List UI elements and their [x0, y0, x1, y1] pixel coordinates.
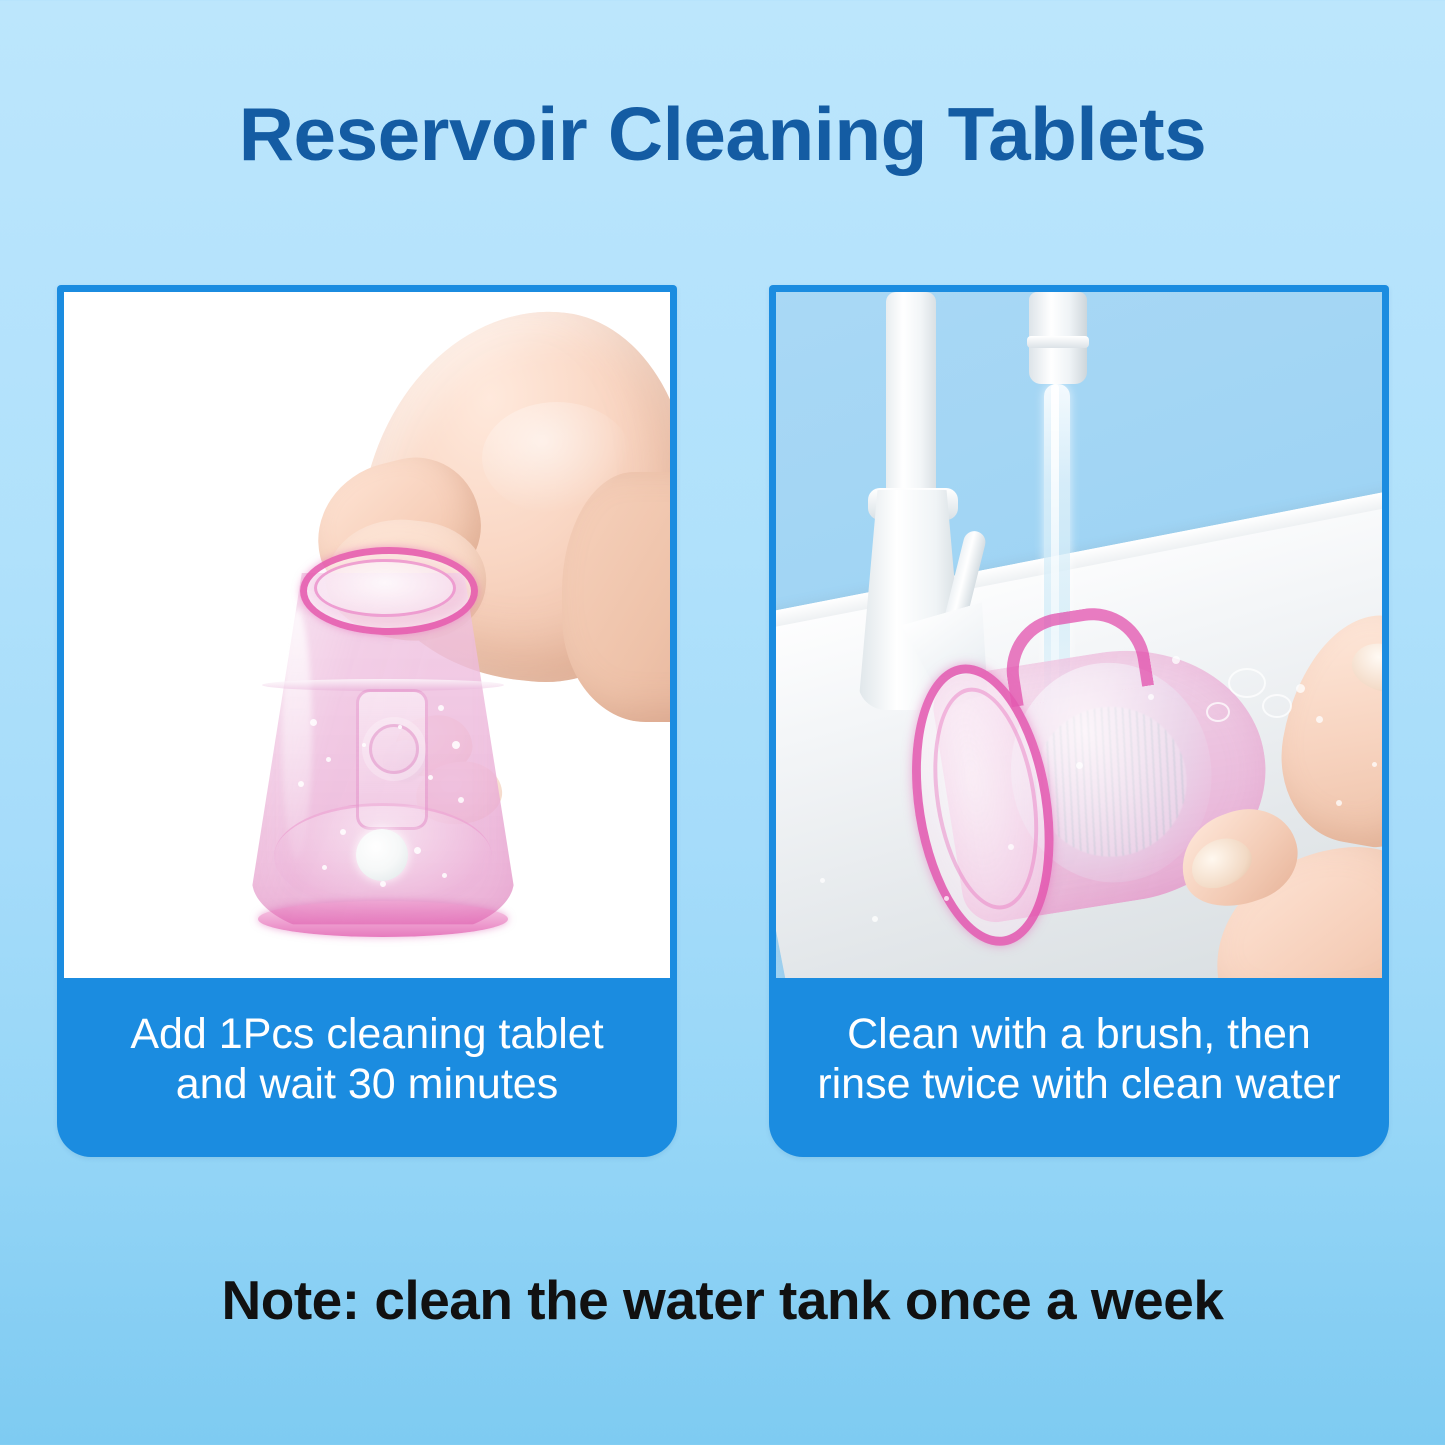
step-2-caption: Clean with a brush, then rinse twice wit… [769, 978, 1389, 1157]
water-splash-ring [1206, 702, 1230, 722]
water-tank-reservoir [252, 529, 514, 939]
bubble [340, 829, 346, 835]
water-splash-ring [1262, 694, 1292, 718]
bubble [362, 743, 366, 747]
step-1-photo [64, 292, 670, 978]
bubble [414, 847, 421, 854]
knuckle-highlight [482, 402, 632, 514]
step-2-caption-line-2: rinse twice with clean water [817, 1060, 1340, 1110]
water-droplet [1316, 716, 1323, 723]
step-1-caption: Add 1Pcs cleaning tablet and wait 30 min… [57, 978, 677, 1157]
water-droplet [944, 896, 949, 901]
bubble [428, 775, 433, 780]
bubble [298, 781, 304, 787]
water-droplet [1372, 762, 1377, 767]
step-1-illustration [64, 292, 670, 978]
water-droplet [1296, 684, 1305, 693]
water-splash-ring [1228, 668, 1266, 698]
water-droplet [820, 878, 825, 883]
water-droplet [1336, 800, 1342, 806]
dissolving-tablet [356, 829, 408, 881]
bubble [322, 865, 327, 870]
tank-rim-inner [314, 559, 456, 617]
bubble [458, 797, 464, 803]
bubble [310, 719, 317, 726]
infographic-page: Reservoir Cleaning Tablets [0, 0, 1445, 1445]
step-card-1: Add 1Pcs cleaning tablet and wait 30 min… [57, 285, 677, 1157]
water-droplet [1172, 656, 1180, 664]
tank-base-ring [258, 901, 508, 937]
step-2-illustration [776, 292, 1382, 978]
page-title: Reservoir Cleaning Tablets [0, 95, 1445, 174]
step-2-caption-line-1: Clean with a brush, then [817, 1010, 1340, 1060]
footer-note: Note: clean the water tank once a week [0, 1268, 1445, 1332]
step-1-caption-line-2: and wait 30 minutes [130, 1060, 603, 1110]
faucet-neck [886, 292, 936, 514]
step-2-photo [776, 292, 1382, 978]
bubble [438, 705, 444, 711]
bubble [398, 725, 402, 729]
water-droplet [1008, 844, 1014, 850]
bubble [326, 757, 331, 762]
step-card-2: Clean with a brush, then rinse twice wit… [769, 285, 1389, 1157]
water-droplet [872, 916, 878, 922]
step-1-caption-line-1: Add 1Pcs cleaning tablet [130, 1010, 603, 1060]
faucet-spout-ring [1027, 336, 1089, 348]
water-droplet [1076, 762, 1083, 769]
tank-inlet-port [356, 689, 428, 830]
water-droplet [1148, 694, 1154, 700]
bubble [452, 741, 460, 749]
bubble [380, 881, 386, 887]
bubble [442, 873, 447, 878]
